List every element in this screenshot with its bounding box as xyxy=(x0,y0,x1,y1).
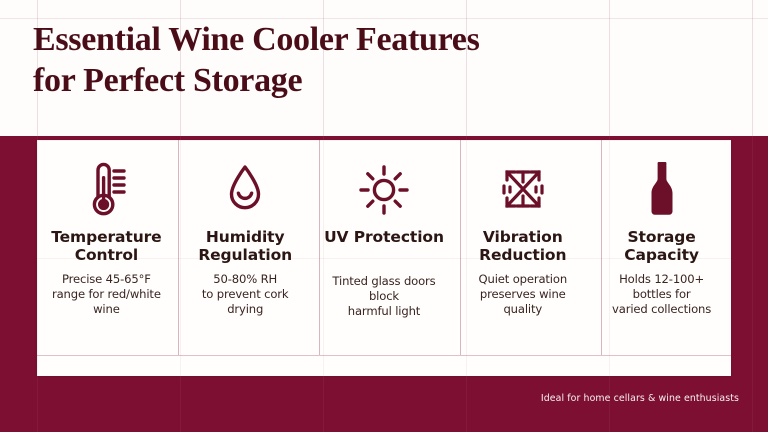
feature-card-storage-capacity[interactable]: Storage Capacity Holds 12-100+ bottles f… xyxy=(592,140,731,376)
feature-card-uv-protection[interactable]: UV Protection Tinted glass doors block h… xyxy=(315,140,454,376)
footer-tagline: Ideal for home cellars & wine enthusiast… xyxy=(541,393,739,404)
feature-title-uv-protection: UV Protection xyxy=(324,228,444,246)
feature-title-line-1: UV Protection xyxy=(324,228,444,246)
feature-title-temperature-control: Temperature Control xyxy=(51,228,161,265)
feature-desc-line-3: varied collections xyxy=(612,302,711,316)
page-title-line-2: for Perfect Storage xyxy=(33,61,653,102)
vibration-icon xyxy=(497,157,549,223)
feature-desc-line-2: to prevent cork xyxy=(202,287,289,301)
feature-title-storage-capacity: Storage Capacity xyxy=(624,228,699,265)
feature-desc-temperature-control: Precise 45-65°F range for red/white wine xyxy=(52,272,161,317)
features-card: Temperature Control Precise 45-65°F rang… xyxy=(37,140,731,376)
feature-desc-vibration-reduction: Quiet operation preserves wine quality xyxy=(479,272,567,317)
feature-desc-uv-protection: Tinted glass doors block harmful light xyxy=(332,274,435,319)
wine-bottle-icon xyxy=(642,157,682,223)
feature-desc-line-1: Precise 45-65°F xyxy=(62,272,151,286)
feature-title-line-1: Temperature xyxy=(51,228,161,246)
column-divider-3 xyxy=(460,140,461,355)
feature-desc-line-3: quality xyxy=(503,302,542,316)
column-divider-4 xyxy=(601,140,602,355)
feature-desc-line-3: drying xyxy=(227,302,263,316)
feature-desc-line-1: 50-80% RH xyxy=(213,272,277,286)
feature-title-line-2: Regulation xyxy=(198,246,292,264)
feature-title-line-2: Control xyxy=(75,246,138,264)
feature-desc-line-1: Tinted glass doors xyxy=(332,274,435,288)
feature-title-humidity-regulation: Humidity Regulation xyxy=(198,228,292,265)
feature-title-line-2: Capacity xyxy=(624,246,699,264)
feature-title-line-1: Storage xyxy=(627,228,695,246)
page-title: Essential Wine Cooler Features for Perfe… xyxy=(33,20,653,102)
feature-card-temperature-control[interactable]: Temperature Control Precise 45-65°F rang… xyxy=(37,140,176,376)
column-divider-1 xyxy=(178,140,179,355)
feature-desc-line-3: harmful light xyxy=(348,304,420,318)
feature-title-line-1: Humidity xyxy=(206,228,285,246)
feature-desc-line-2: range for red/white xyxy=(52,287,161,301)
feature-desc-line-2: bottles for xyxy=(633,287,691,301)
feature-title-line-1: Vibration xyxy=(483,228,563,246)
card-bottom-rule xyxy=(37,355,731,356)
feature-desc-line-1: Holds 12-100+ xyxy=(619,272,704,286)
feature-desc-line-2: preserves wine xyxy=(480,287,566,301)
feature-desc-line-1: Quiet operation xyxy=(479,272,567,286)
feature-title-line-2: Reduction xyxy=(479,246,566,264)
thermometer-icon xyxy=(84,157,128,223)
feature-title-vibration-reduction: Vibration Reduction xyxy=(479,228,566,265)
feature-desc-line-3: wine xyxy=(93,302,120,316)
slide-canvas: Essential Wine Cooler Features for Perfe… xyxy=(0,0,768,432)
feature-desc-line-2: block xyxy=(369,289,399,303)
feature-card-vibration-reduction[interactable]: Vibration Reduction Quiet operation pres… xyxy=(453,140,592,376)
sun-icon xyxy=(358,157,410,223)
water-droplet-icon xyxy=(223,157,267,223)
feature-desc-storage-capacity: Holds 12-100+ bottles for varied collect… xyxy=(612,272,711,317)
page-title-line-1: Essential Wine Cooler Features xyxy=(33,20,653,61)
feature-card-humidity-regulation[interactable]: Humidity Regulation 50-80% RH to prevent… xyxy=(176,140,315,376)
feature-desc-humidity-regulation: 50-80% RH to prevent cork drying xyxy=(202,272,289,317)
column-divider-2 xyxy=(319,140,320,355)
